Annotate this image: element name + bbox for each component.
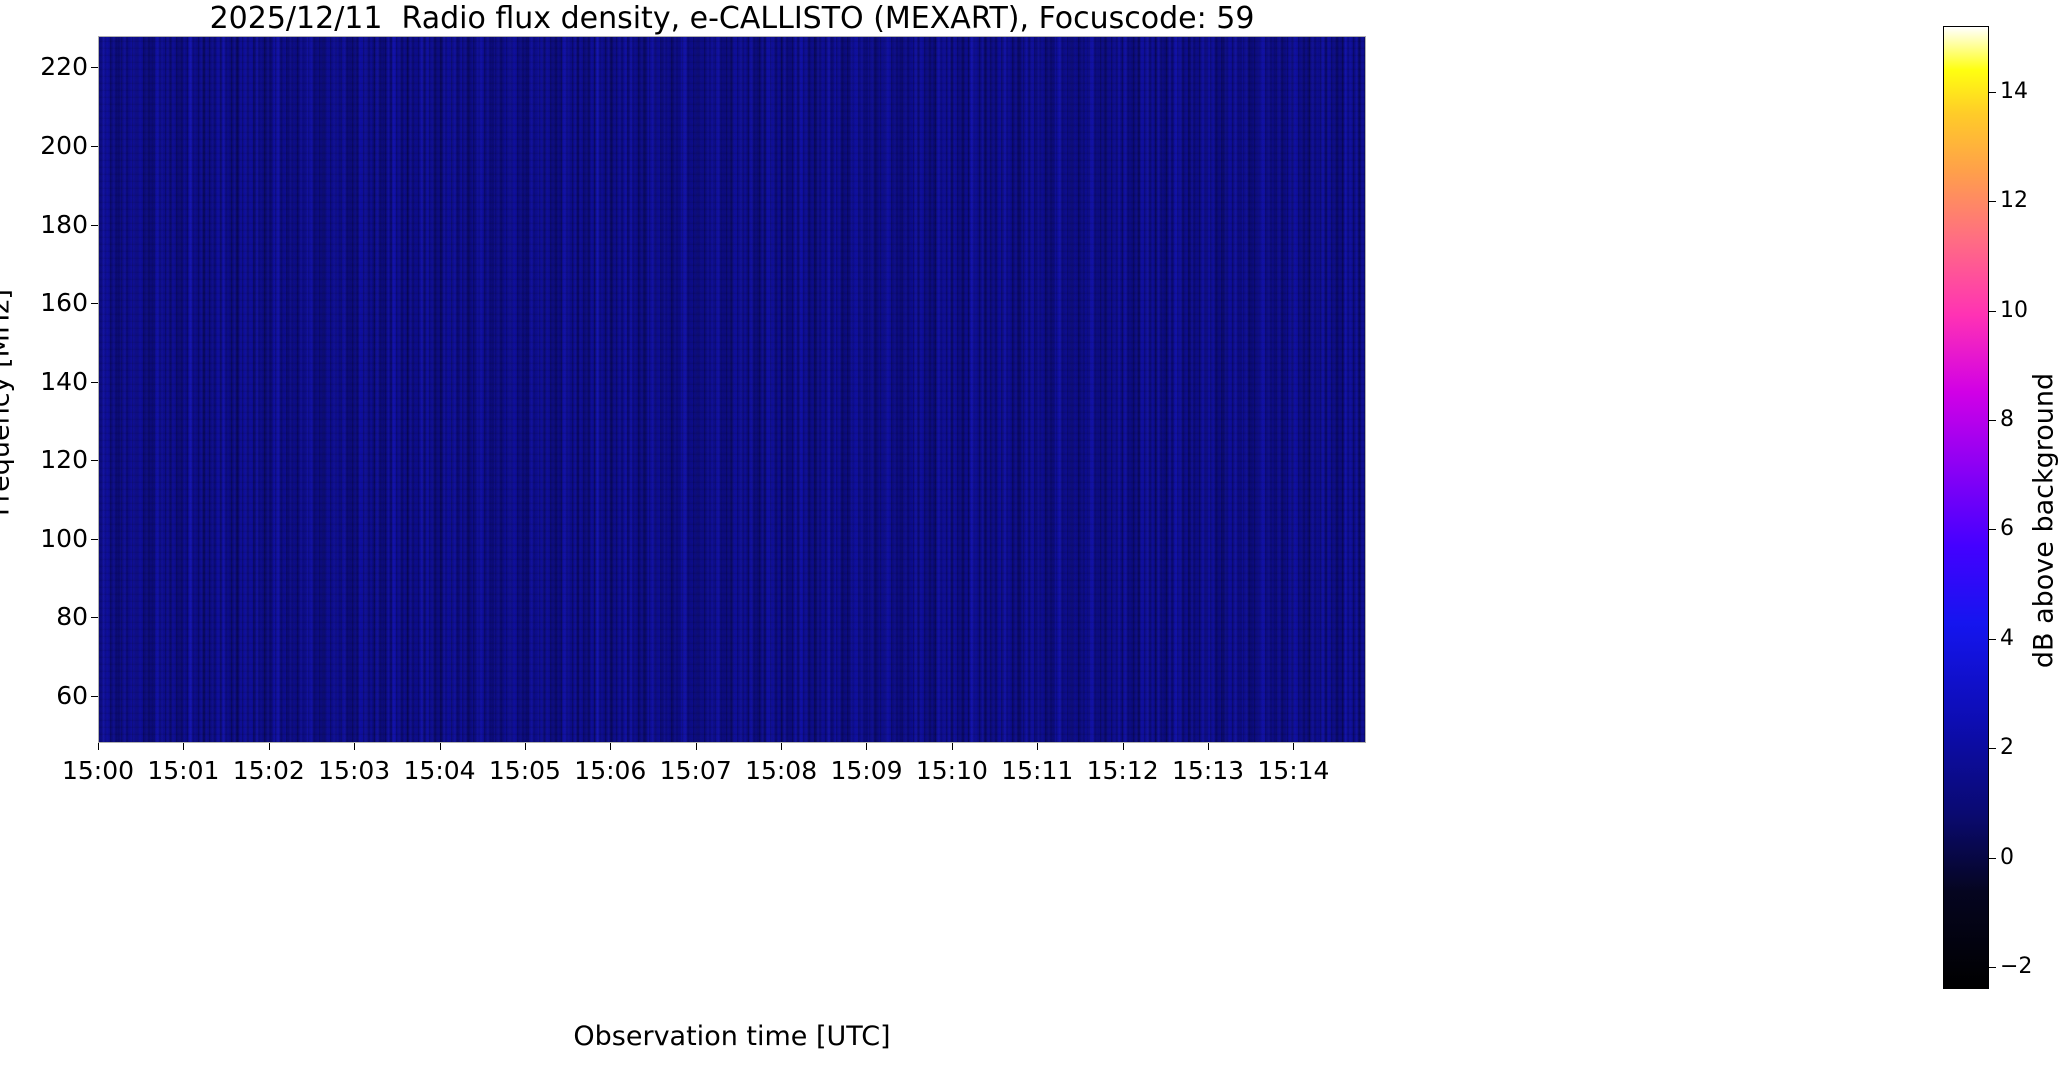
- x-axis-tick-mark: [952, 743, 953, 750]
- colorbar-tick-label: 12: [2000, 190, 2028, 212]
- spectrogram-heatmap-image: [99, 37, 1365, 742]
- x-axis-tick-label: 15:09: [830, 757, 902, 785]
- y-axis-tick-mark: [91, 617, 98, 618]
- colorbar-tick-mark: [1989, 529, 1996, 530]
- x-axis-tick-mark: [1123, 743, 1124, 750]
- x-axis-tick-mark: [696, 743, 697, 750]
- x-axis-tick-mark: [183, 743, 184, 750]
- colorbar-tick-mark: [1989, 420, 1996, 421]
- x-axis-tick-label: 15:06: [574, 757, 646, 785]
- x-axis-tick-label: 15:13: [1172, 757, 1244, 785]
- colorbar-tick-mark: [1989, 201, 1996, 202]
- spectrogram-noise-layer-d: [99, 37, 1365, 742]
- x-axis-tick-label: 15:07: [660, 757, 732, 785]
- colorbar-tick-label: 8: [2000, 409, 2014, 431]
- colorbar-tick-mark: [1989, 92, 1996, 93]
- y-axis-tick-mark: [91, 67, 98, 68]
- colorbar-tick-label: 4: [2000, 628, 2014, 650]
- colorbar-tick-label: 14: [2000, 81, 2028, 103]
- x-axis-tick-mark: [1208, 743, 1209, 750]
- colorbar-tick-mark: [1989, 967, 1996, 968]
- y-axis-tick-mark: [91, 460, 98, 461]
- colorbar: [1943, 26, 1989, 989]
- x-axis-tick-mark: [354, 743, 355, 750]
- colorbar-gradient: [1944, 27, 1988, 988]
- x-axis-tick-label: 15:05: [489, 757, 561, 785]
- y-axis-tick-mark: [91, 696, 98, 697]
- colorbar-tick-mark: [1989, 311, 1996, 312]
- y-axis-tick-mark: [91, 303, 98, 304]
- x-axis-tick-mark: [610, 743, 611, 750]
- x-axis-tick-mark: [781, 743, 782, 750]
- colorbar-tick-label: −2: [2000, 956, 2032, 978]
- colorbar-tick-mark: [1989, 639, 1996, 640]
- x-axis-tick-label: 15:08: [745, 757, 817, 785]
- page-title: 2025/12/11 Radio flux density, e-CALLIST…: [98, 2, 1366, 36]
- colorbar-tick-label: 6: [2000, 518, 2014, 540]
- colorbar-tick-mark: [1989, 858, 1996, 859]
- colorbar-label: dB above background: [2031, 373, 2058, 668]
- x-axis-tick-mark: [866, 743, 867, 750]
- x-axis-tick-mark: [440, 743, 441, 750]
- y-axis-tick-mark: [91, 382, 98, 383]
- x-axis-tick-mark: [269, 743, 270, 750]
- x-axis-label: Observation time [UTC]: [98, 1022, 1366, 1052]
- x-axis-tick-mark: [1293, 743, 1294, 750]
- x-axis-tick-mark: [1037, 743, 1038, 750]
- x-axis-tick-label: 15:00: [62, 757, 134, 785]
- colorbar-tick-label: 2: [2000, 737, 2014, 759]
- spectrogram-plot-area: [98, 36, 1366, 743]
- x-axis-tick-label: 15:04: [404, 757, 476, 785]
- colorbar-tick-label: 0: [2000, 847, 2014, 869]
- y-axis-tick-mark: [91, 225, 98, 226]
- y-axis-label: Frequency [MHz]: [0, 289, 14, 516]
- x-axis-tick-label: 15:01: [147, 757, 219, 785]
- x-axis-tick-label: 15:14: [1257, 757, 1329, 785]
- x-axis-tick-label: 15:11: [1001, 757, 1073, 785]
- y-axis-tick-mark: [91, 146, 98, 147]
- colorbar-tick-label: 10: [2000, 300, 2028, 322]
- colorbar-tick-mark: [1989, 748, 1996, 749]
- x-axis-tick-mark: [525, 743, 526, 750]
- y-axis-tick-mark: [91, 539, 98, 540]
- x-axis-tick-mark: [98, 743, 99, 750]
- x-axis-tick-label: 15:03: [318, 757, 390, 785]
- x-axis-tick-label: 15:10: [916, 757, 988, 785]
- x-axis-tick-label: 15:12: [1087, 757, 1159, 785]
- x-axis-tick-label: 15:02: [233, 757, 305, 785]
